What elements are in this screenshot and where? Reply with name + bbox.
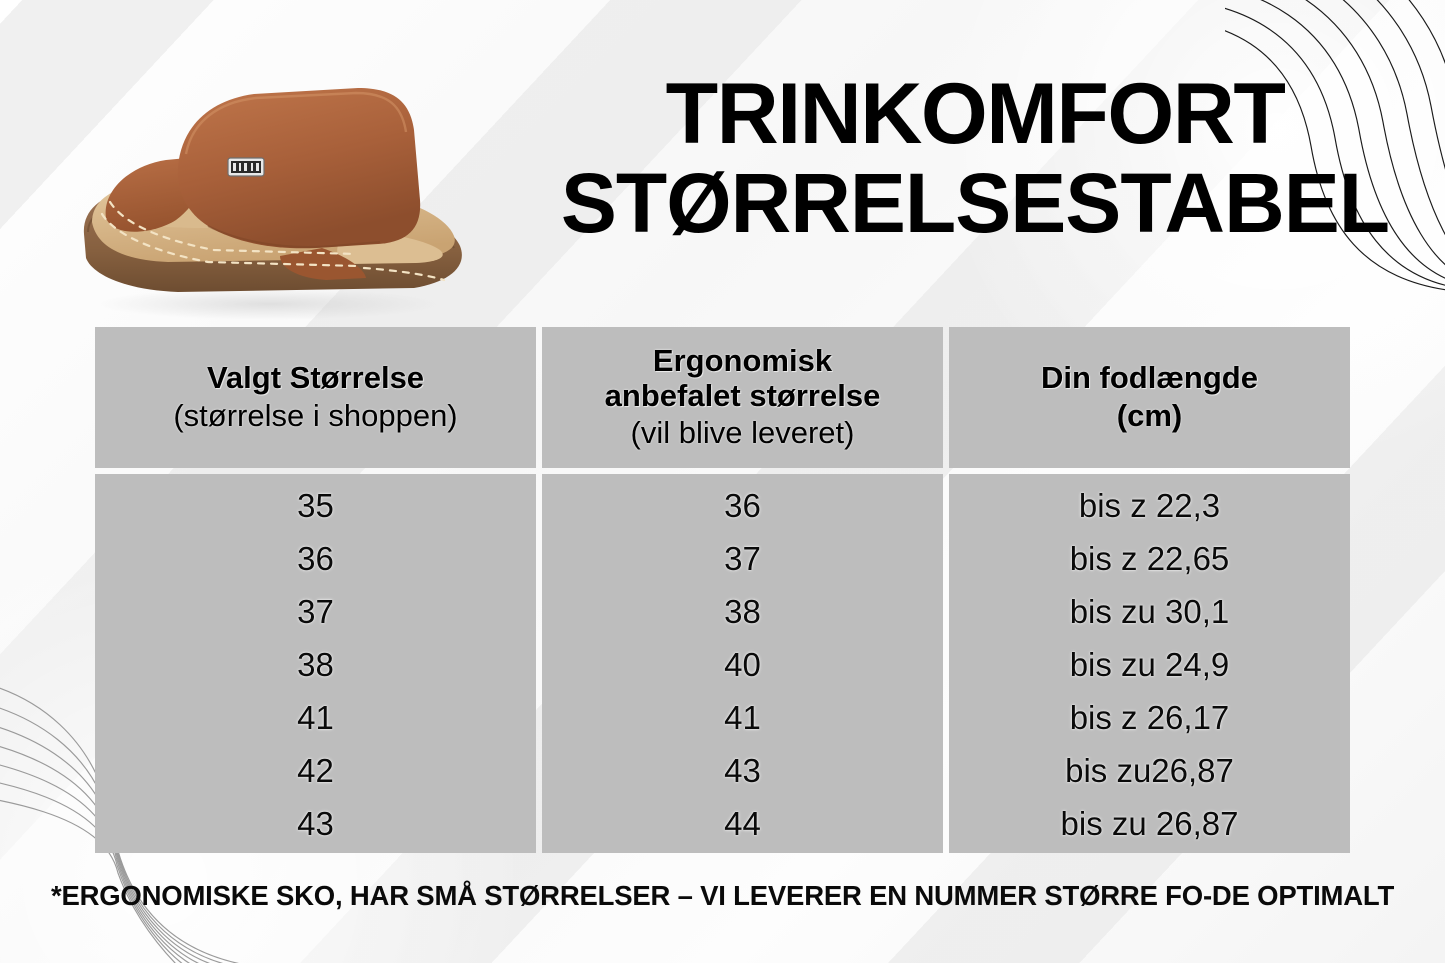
table-cell: bis zu 24,9 xyxy=(1070,638,1230,691)
table-cell: 37 xyxy=(724,532,761,585)
column-body-valgt-storrelse: 35363738414243 xyxy=(95,474,536,853)
cell-list-din-fodlaengde: bis z 22,3bis z 22,65bis zu 30,1bis zu 2… xyxy=(949,474,1350,853)
table-cell: 41 xyxy=(297,691,334,744)
column-header-ergonomisk-anbefalet: Ergonomisk anbefalet størrelse (vil bliv… xyxy=(542,327,943,468)
product-photo-sandal xyxy=(58,82,478,322)
table-body: 35363738414243 36373840414344 bis z 22,3… xyxy=(95,474,1350,853)
title-line-2: STØRRELSESTABEL xyxy=(560,162,1390,244)
column-header-subtitle: (vil blive leveret) xyxy=(631,415,855,451)
table-cell: 36 xyxy=(724,479,761,532)
table-cell: 37 xyxy=(297,585,334,638)
column-header-title: Din fodlængde xyxy=(1041,361,1258,396)
table-cell: bis z 22,65 xyxy=(1070,532,1230,585)
column-body-din-fodlaengde: bis z 22,3bis z 22,65bis zu 30,1bis zu 2… xyxy=(949,474,1350,853)
column-header-din-fodlaengde: Din fodlængde (cm) xyxy=(949,327,1350,468)
table-header-row: Valgt Størrelse (størrelse i shoppen) Er… xyxy=(95,327,1350,468)
column-header-subtitle: (cm) xyxy=(1117,398,1182,434)
table-cell: 43 xyxy=(724,744,761,797)
table-cell: bis z 26,17 xyxy=(1070,691,1230,744)
table-cell: 43 xyxy=(297,797,334,850)
table-cell: 38 xyxy=(724,585,761,638)
title-line-1: TRINKOMFORT xyxy=(560,72,1390,156)
cell-list-ergonomisk-anbefalet: 36373840414344 xyxy=(542,474,943,853)
table-cell: 38 xyxy=(297,638,334,691)
column-header-valgt-storrelse: Valgt Størrelse (størrelse i shoppen) xyxy=(95,327,536,468)
brand-plate-icon xyxy=(228,158,264,176)
table-cell: 41 xyxy=(724,691,761,744)
column-body-ergonomisk-anbefalet: 36373840414344 xyxy=(542,474,943,853)
table-cell: bis zu 26,87 xyxy=(1061,797,1239,850)
table-cell: bis zu26,87 xyxy=(1065,744,1234,797)
table-cell: 42 xyxy=(297,744,334,797)
table-cell: 40 xyxy=(724,638,761,691)
size-table: Valgt Størrelse (størrelse i shoppen) Er… xyxy=(95,327,1350,853)
column-header-title: Ergonomisk xyxy=(653,344,832,379)
cell-list-valgt-storrelse: 35363738414243 xyxy=(95,474,536,853)
page-title: TRINKOMFORT STØRRELSESTABEL xyxy=(560,72,1390,245)
sandal-illustration xyxy=(58,82,478,322)
column-header-subtitle: (størrelse i shoppen) xyxy=(173,398,457,434)
column-header-title: Valgt Størrelse xyxy=(207,361,424,396)
table-cell: 44 xyxy=(724,797,761,850)
table-cell: bis zu 30,1 xyxy=(1070,585,1230,638)
column-header-title-second-line: anbefalet størrelse xyxy=(605,379,881,414)
table-cell: 35 xyxy=(297,479,334,532)
table-cell: 36 xyxy=(297,532,334,585)
size-chart-poster: TRINKOMFORT STØRRELSESTABEL Valgt Større… xyxy=(0,0,1445,963)
table-cell: bis z 22,3 xyxy=(1079,479,1220,532)
footnote-text: *ERGONOMISKE SKO, HAR SMÅ STØRRELSER – V… xyxy=(0,880,1445,912)
